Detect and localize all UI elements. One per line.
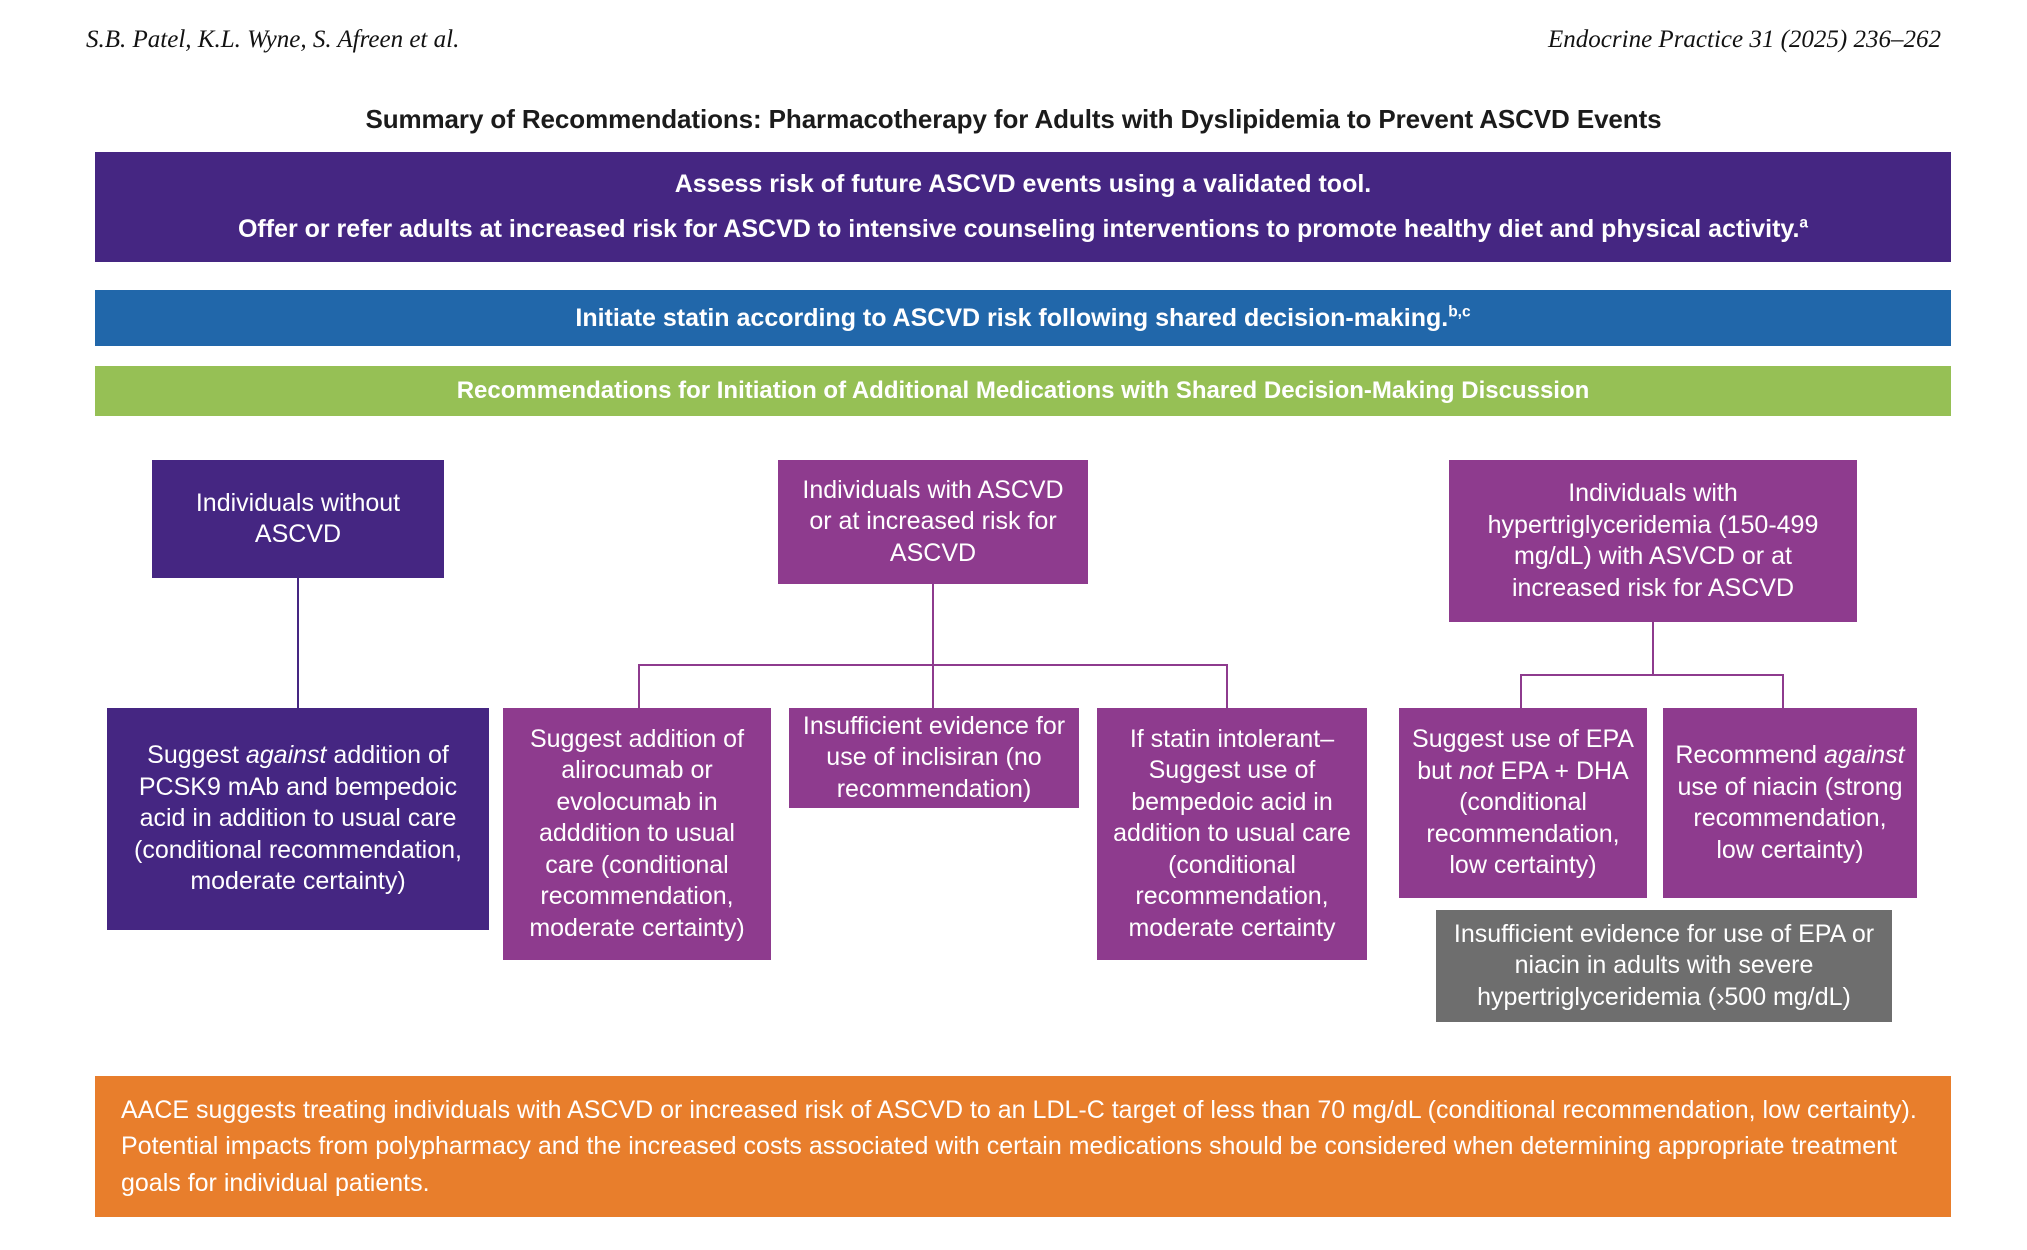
figure-title: Summary of Recommendations: Pharmacother… <box>0 104 2027 135</box>
banner-statin-superscript: b,c <box>1448 303 1470 320</box>
connector-htg-drop-1 <box>1520 674 1522 708</box>
footer-statement-ldl-target: AACE suggests treating individuals with … <box>95 1076 1951 1217</box>
recommendation-text-pcsk9: Suggest against addition of PCSK9 mAb an… <box>117 740 479 898</box>
figure-page: S.B. Patel, K.L. Wyne, S. Afreen et al. … <box>0 0 2027 1250</box>
recommendation-box-alirocumab-evolocumab: Suggest addition of alirocumab or evoloc… <box>503 708 771 960</box>
recommendation-text-epa: Suggest use of EPA but not EPA + DHA (co… <box>1409 724 1637 882</box>
recommendation-box-pcsk9-bempedoic: Suggest against addition of PCSK9 mAb an… <box>107 708 489 930</box>
banner-assess-line2-text: Offer or refer adults at increased risk … <box>238 215 1799 243</box>
niacin-text-part-c: use of niacin (strong recommendation, lo… <box>1677 773 1902 864</box>
rec-text-part-b-italic: against <box>246 741 327 769</box>
connector-htg-drop-2 <box>1782 674 1784 708</box>
rec-text-part-a: Suggest <box>147 741 246 769</box>
banner-initiate-statin: Initiate statin according to ASCVD risk … <box>95 290 1951 346</box>
note-box-insufficient-evidence-severe-htg: Insufficient evidence for use of EPA or … <box>1436 910 1892 1022</box>
niacin-text-part-a: Recommend <box>1675 741 1824 769</box>
banner-statin-text: Initiate statin according to ASCVD risk … <box>575 304 1448 332</box>
recommendation-box-inclisiran: Insufficient evidence for use of inclisi… <box>789 708 1079 808</box>
branch-header-no-ascvd: Individuals without ASCVD <box>152 460 444 578</box>
recommendation-box-statin-intolerant-bempedoic: If statin intolerant–Suggest use of bemp… <box>1097 708 1367 960</box>
recommendation-box-niacin: Recommend against use of niacin (strong … <box>1663 708 1917 898</box>
banner-assess-superscript: a <box>1799 215 1808 232</box>
branch-header-with-ascvd: Individuals with ASCVD or at increased r… <box>778 460 1088 584</box>
connector-htg-horizontal <box>1520 674 1784 676</box>
epa-text-part-b-italic: not <box>1459 757 1494 785</box>
banner-assess-risk: Assess risk of future ASCVD events using… <box>95 152 1951 262</box>
running-head-journal: Endocrine Practice 31 (2025) 236–262 <box>1548 26 1941 54</box>
connector-with-ascvd-drop-2 <box>932 664 934 708</box>
connector-with-ascvd-drop-1 <box>638 664 640 708</box>
recommendation-box-epa: Suggest use of EPA but not EPA + DHA (co… <box>1399 708 1647 898</box>
running-head-authors: S.B. Patel, K.L. Wyne, S. Afreen et al. <box>86 26 459 54</box>
connector-no-ascvd-vertical <box>297 578 299 708</box>
banner-assess-line1: Assess risk of future ASCVD events using… <box>675 168 1371 202</box>
connector-with-ascvd-drop-3 <box>1226 664 1228 708</box>
niacin-text-part-b-italic: against <box>1824 741 1905 769</box>
banner-statin-row: Initiate statin according to ASCVD risk … <box>575 304 1470 333</box>
branch-header-hypertriglyceridemia: Individuals with hypertriglyceridemia (1… <box>1449 460 1857 622</box>
recommendation-text-niacin: Recommend against use of niacin (strong … <box>1673 740 1907 866</box>
connector-with-ascvd-trunk <box>932 584 934 664</box>
banner-additional-medications: Recommendations for Initiation of Additi… <box>95 366 1951 416</box>
banner-assess-line2: Offer or refer adults at increased risk … <box>238 213 1808 247</box>
connector-htg-trunk <box>1652 622 1654 674</box>
